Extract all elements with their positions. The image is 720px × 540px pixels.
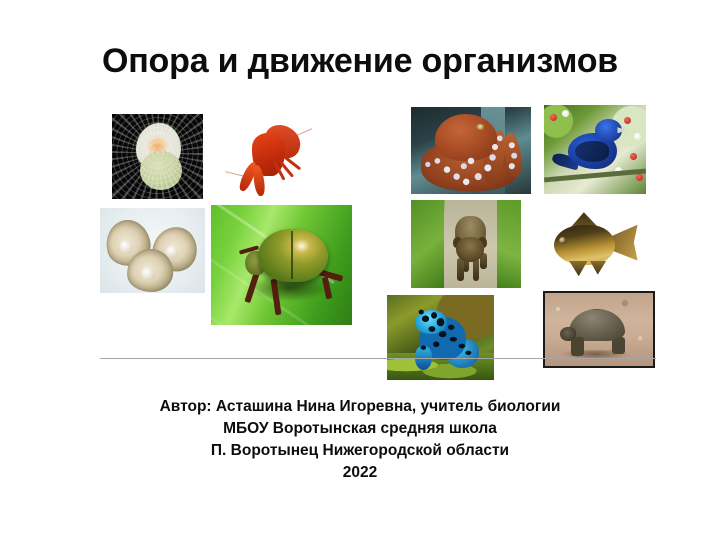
fish-anal-fin-shape <box>590 261 607 275</box>
author-line-1: Автор: Асташина Нина Игоревна, учитель б… <box>60 396 660 418</box>
oyster-pearl-shape <box>119 238 135 255</box>
fish-pelvic-fin-shape <box>569 261 588 277</box>
tortoise-photo <box>543 291 655 368</box>
bird-beak-shape <box>617 127 626 133</box>
tortoise-head-shape <box>560 327 576 342</box>
grass-shape <box>411 200 444 288</box>
berry-shape <box>634 133 641 140</box>
fish-scene <box>544 206 648 284</box>
oyster-pearl-shape <box>141 266 155 279</box>
beetle-elytra-seam-shape <box>291 231 293 279</box>
frog-scene <box>387 295 494 380</box>
octopus-suckers-overlay <box>411 107 531 194</box>
berry-shape <box>550 114 557 121</box>
crayfish-scene <box>212 113 322 205</box>
branch-shape <box>544 168 646 182</box>
dog-photo <box>411 200 521 288</box>
oysters-scene <box>100 208 205 293</box>
beetle-photo <box>211 205 352 325</box>
leaf-vein-shape <box>211 311 334 325</box>
octopus-photo <box>411 107 531 194</box>
oysters-photo <box>100 208 205 293</box>
tortoise-scene <box>545 293 653 366</box>
grass-shape <box>497 200 521 288</box>
octopus-scene <box>411 107 531 194</box>
presentation-slide: Опора и движение организмов <box>0 0 720 540</box>
snail-shell-scene <box>112 114 203 199</box>
fish-eye-shape <box>559 237 566 244</box>
page-title: Опора и движение организмов <box>40 42 680 80</box>
berry-shape <box>630 153 637 160</box>
fish-photo <box>544 206 648 284</box>
blue-bird-scene <box>544 105 646 194</box>
fish-body-shape <box>554 225 614 266</box>
frog-spots-overlay <box>387 295 494 380</box>
author-line-4: 2022 <box>60 462 660 484</box>
dog-scene <box>411 200 521 288</box>
blue-bird-photo <box>544 105 646 194</box>
dog-head-shape <box>456 237 484 262</box>
berry-shape <box>624 117 631 124</box>
shell-texture-overlay <box>112 114 203 199</box>
horizontal-divider <box>100 358 656 359</box>
berry-shape <box>562 110 569 117</box>
poison-dart-frog-photo <box>387 295 494 380</box>
beetle-scene <box>211 205 352 325</box>
author-line-2: МБОУ Воротынская средняя школа <box>60 418 660 440</box>
author-credit-block: Автор: Асташина Нина Игоревна, учитель б… <box>60 396 660 484</box>
dog-leg-shape <box>457 258 464 281</box>
crayfish-photo <box>212 113 322 205</box>
berry-shape <box>636 174 643 181</box>
author-line-3: П. Воротынец Нижегородской области <box>60 440 660 462</box>
snail-shell-photo <box>112 114 203 199</box>
bird-wing-shape <box>575 141 610 162</box>
